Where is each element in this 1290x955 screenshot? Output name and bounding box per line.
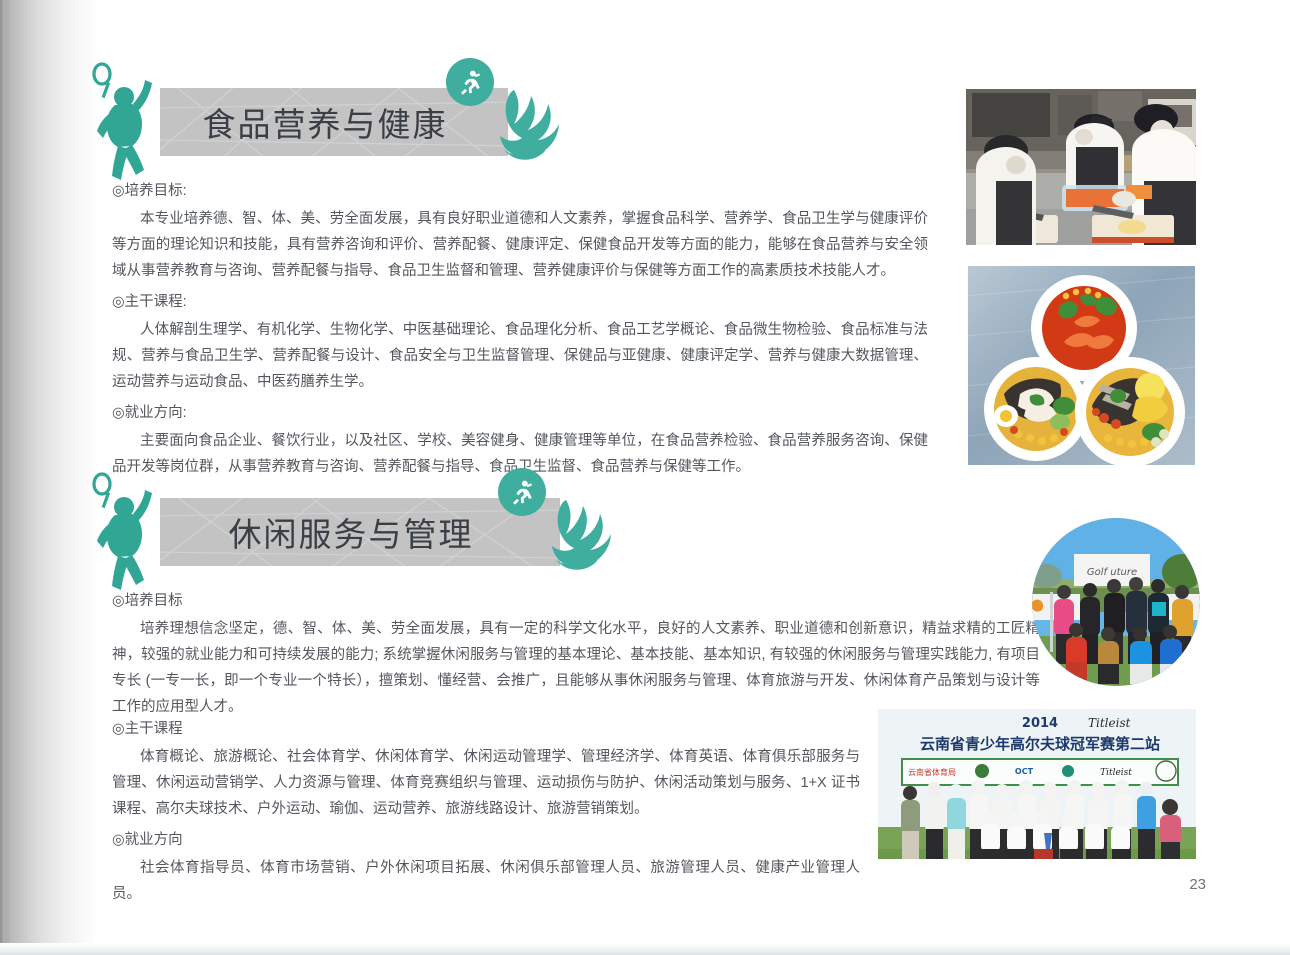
block-heading: ◎就业方向: (112, 400, 928, 426)
section-leisure-management-header: 休闲服务与管理 (108, 468, 668, 546)
section-food-nutrition-header: 食品营养与健康 (108, 58, 608, 136)
golf-championship-photo: 2014 Titleist 云南省青少年高尔夫球冠军赛第二站 云南省体育局 OC… (875, 706, 1199, 862)
page-number: 23 (1189, 876, 1206, 893)
banner-sponsor-text: 云南省体育局 (908, 767, 956, 777)
section-1-body: ◎培养目标: 本专业培养德、智、体、美、劳全面发展，具有良好职业道德和人文素养，… (112, 178, 928, 482)
plated-food-photo (965, 263, 1198, 468)
section-2-body-lower: ◎主干课程 体育概论、旅游概论、社会体育学、休闲体育学、休闲运动管理学、管理经济… (112, 716, 860, 909)
section-title-2: 休闲服务与管理 (160, 498, 560, 566)
kitchen-photo-illustration (966, 89, 1199, 248)
banner-headline-text: 云南省青少年高尔夫球冠军赛第二站 (920, 735, 1160, 753)
banner-year-text: 2014 (1022, 716, 1058, 731)
flame-leaf-icon (498, 86, 560, 164)
runner-icon (446, 58, 494, 106)
banner-wrapper: 休闲服务与管理 (108, 468, 668, 546)
block-heading: ◎就业方向 (112, 827, 860, 853)
section-2-body: ◎培养目标 培养理想信念坚定，德、智、体、美、劳全面发展，具有一定的科学文化水平… (112, 588, 1040, 722)
page-spine-edge (0, 0, 5, 955)
golf-circle-illustration: Golf uture (1032, 518, 1200, 686)
block-paragraph: 培养理想信念坚定，德、智、体、美、劳全面发展，具有一定的科学文化水平，良好的人文… (112, 616, 1040, 720)
brochure-page: 食品营养与健康 (0, 0, 1290, 955)
block-paragraph: 人体解剖生理学、有机化学、生物化学、中医基础理论、食品理化分析、食品工艺学概论、… (112, 317, 928, 395)
block-heading: ◎培养目标 (112, 588, 1040, 614)
block-paragraph: 体育概论、旅游概论、社会体育学、休闲体育学、休闲运动管理学、管理经济学、体育英语… (112, 744, 860, 822)
food-photo-illustration (968, 266, 1198, 468)
svg-text:Titleist: Titleist (1100, 768, 1132, 778)
block-heading: ◎主干课程 (112, 716, 860, 742)
banner-brand-text: Titleist (1088, 716, 1131, 730)
runner-glyph-icon (507, 477, 537, 507)
runner-glyph-icon (455, 67, 485, 97)
runner-icon (498, 468, 546, 516)
section-banner-2: 休闲服务与管理 (160, 498, 560, 566)
block-paragraph: 社会体育指导员、体育市场营销、户外休闲项目拓展、休闲俱乐部管理人员、旅游管理人员… (112, 855, 860, 907)
svg-text:OCT: OCT (1015, 767, 1034, 776)
kitchen-training-photo (963, 86, 1199, 248)
badminton-player-icon (88, 468, 162, 596)
block-heading: ◎主干课程: (112, 289, 928, 315)
golf-team-circle-photo: Golf uture (1032, 518, 1200, 686)
svg-text:Golf uture: Golf uture (1087, 567, 1137, 578)
golf-championship-illustration: 2014 Titleist 云南省青少年高尔夫球冠军赛第二站 云南省体育局 OC… (878, 709, 1199, 862)
block-heading: ◎培养目标: (112, 178, 928, 204)
flame-leaf-icon (550, 496, 612, 574)
badminton-player-icon (88, 58, 162, 186)
page-bottom-edge (0, 943, 1290, 955)
block-paragraph: 本专业培养德、智、体、美、劳全面发展，具有良好职业道德和人文素养，掌握食品科学、… (112, 206, 928, 284)
banner-wrapper: 食品营养与健康 (108, 58, 608, 136)
